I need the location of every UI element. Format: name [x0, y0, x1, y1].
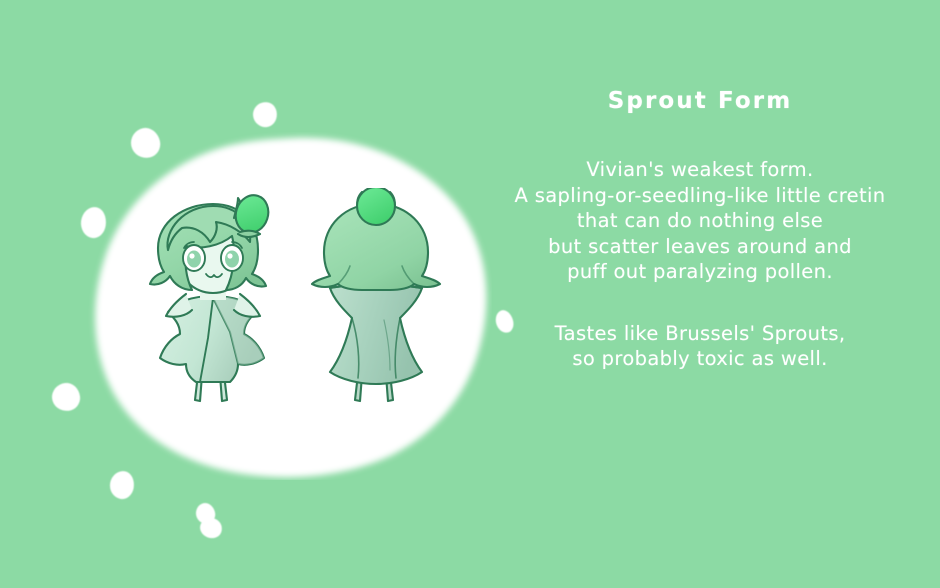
description-line: puff out paralyzing pollen. [480, 259, 920, 285]
description-paragraph: Vivian's weakest form. A sapling-or-seed… [480, 157, 920, 285]
description-line: Vivian's weakest form. [480, 157, 920, 183]
decor-blob [51, 382, 82, 413]
page-title: Sprout Form [480, 86, 920, 116]
sprout-form-card: Sprout Form Vivian's weakest form. A sap… [0, 0, 940, 588]
description-line: that can do nothing else [480, 208, 920, 234]
character-front-view [138, 188, 288, 420]
flavor-paragraph: Tastes like Brussels' Sprouts, so probab… [480, 321, 920, 372]
text-panel: Sprout Form Vivian's weakest form. A sap… [480, 86, 920, 372]
flavor-line: so probably toxic as well. [480, 346, 920, 372]
character-back-view [300, 188, 452, 420]
flavor-line: Tastes like Brussels' Sprouts, [480, 321, 920, 347]
description-line: but scatter leaves around and [480, 234, 920, 260]
description-line: A sapling-or-seedling-like little cretin [480, 183, 920, 209]
decor-blob [250, 99, 281, 130]
